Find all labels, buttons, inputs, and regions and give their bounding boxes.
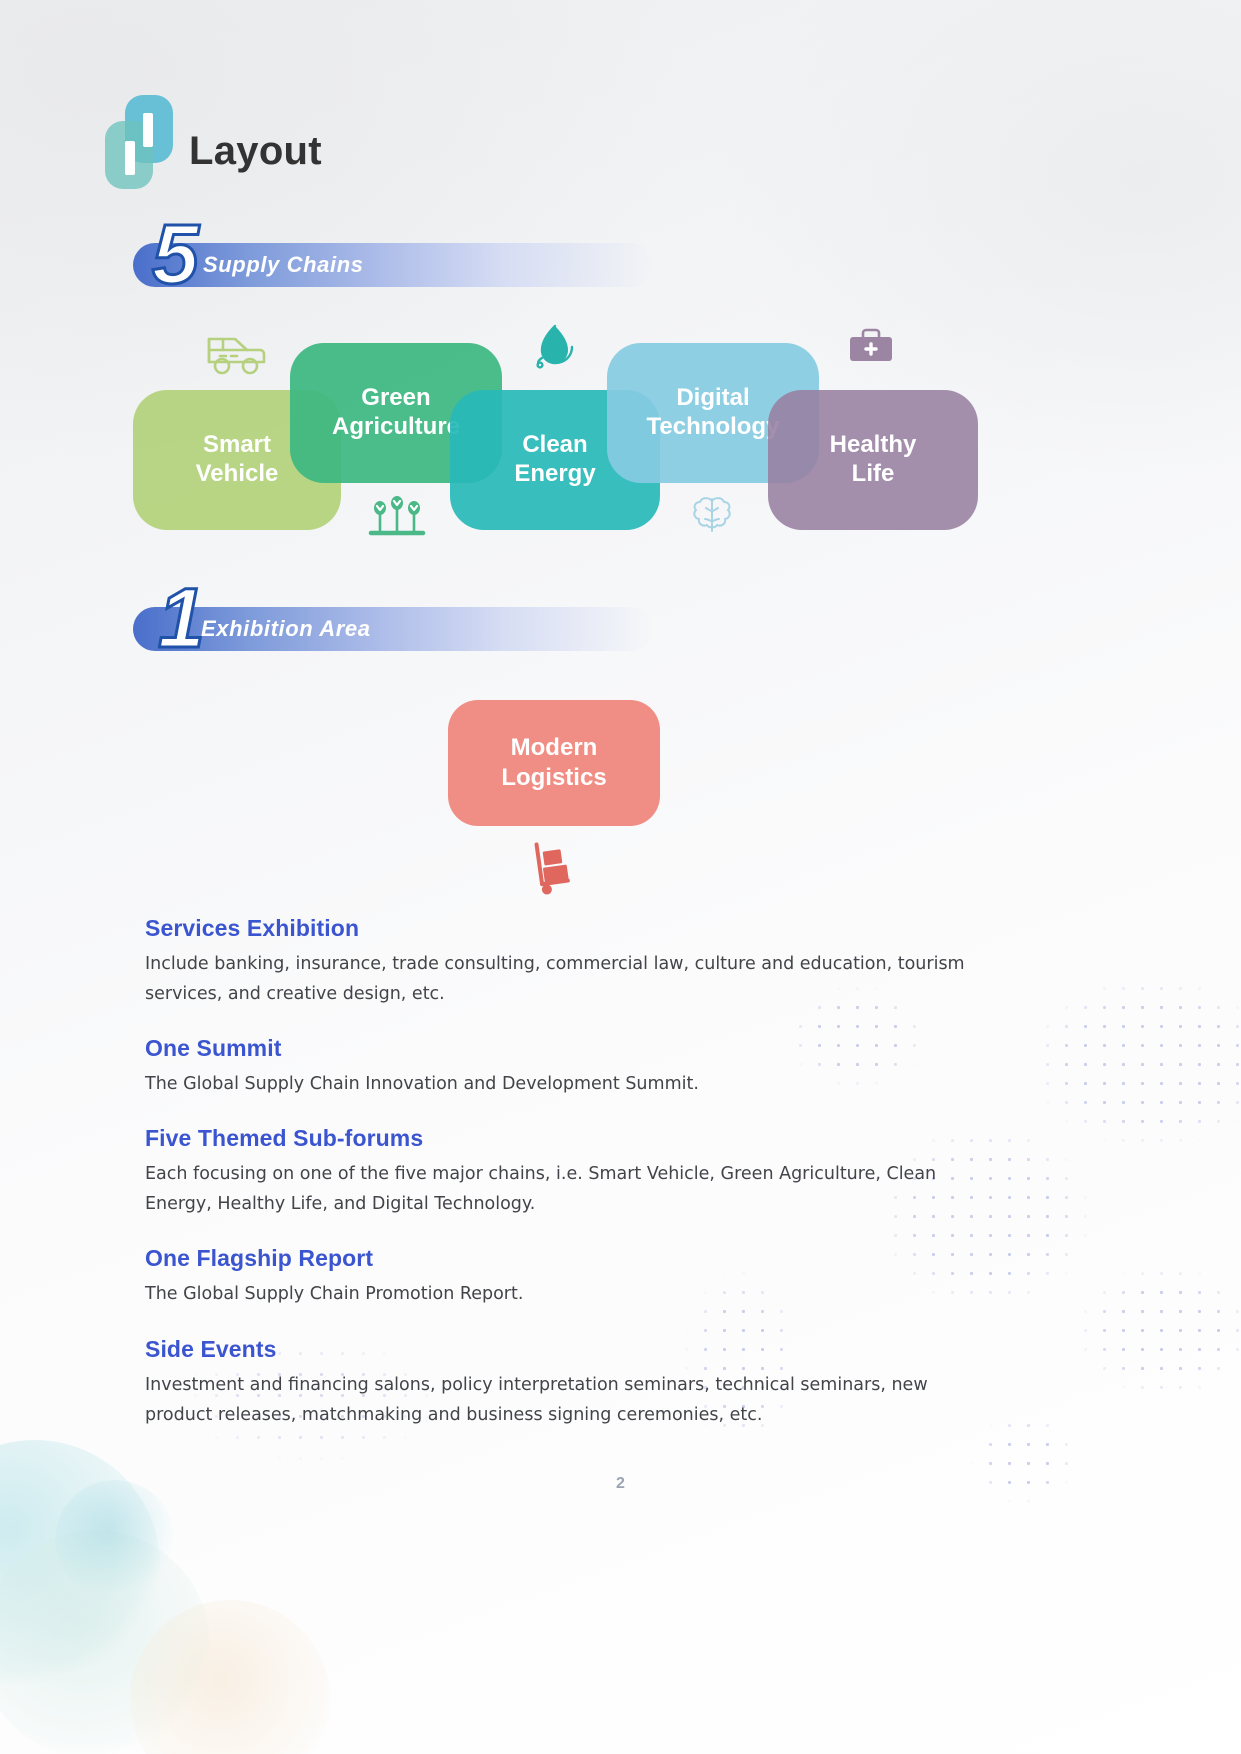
chain-label-line2: Vehicle — [196, 460, 279, 487]
detail-body: Each focusing on one of the five major c… — [145, 1159, 975, 1219]
brand-logo-icon — [105, 95, 177, 190]
chain-label-line1: Smart — [203, 431, 271, 458]
page-title: Layout — [189, 129, 322, 174]
detail-item: Side Events Investment and financing sal… — [145, 1336, 975, 1430]
hand-truck-icon — [528, 838, 584, 903]
details-list: Services Exhibition Include banking, ins… — [145, 915, 975, 1456]
detail-heading: One Flagship Report — [145, 1245, 975, 1272]
section-banner-label: Exhibition Area — [201, 616, 371, 642]
slide-page: Layout Supply Chains 5 Smart Vehicle Gre… — [0, 0, 1241, 1754]
leaf-icon — [530, 322, 580, 379]
detail-item: One Summit The Global Supply Chain Innov… — [145, 1035, 975, 1099]
detail-item: Services Exhibition Include banking, ins… — [145, 915, 975, 1009]
detail-body: The Global Supply Chain Promotion Report… — [145, 1279, 975, 1309]
detail-body: Include banking, insurance, trade consul… — [145, 949, 975, 1009]
wheat-icon — [368, 492, 426, 545]
section-banner-exhibition-area: Exhibition Area — [133, 607, 653, 651]
detail-item: One Flagship Report The Global Supply Ch… — [145, 1245, 975, 1309]
detail-body: Investment and financing salons, policy … — [145, 1370, 975, 1430]
chain-label-line2: Energy — [514, 460, 595, 487]
detail-item: Five Themed Sub-forums Each focusing on … — [145, 1125, 975, 1219]
brain-icon — [686, 492, 738, 543]
chain-label-line1: Clean — [522, 431, 587, 458]
chain-card-healthy-life[interactable]: Healthy Life — [768, 390, 978, 530]
detail-heading: Five Themed Sub-forums — [145, 1125, 975, 1152]
detail-body: The Global Supply Chain Innovation and D… — [145, 1069, 975, 1099]
decorative-bubble — [55, 1480, 175, 1600]
detail-heading: Services Exhibition — [145, 915, 975, 942]
page-number: 2 — [0, 1475, 1241, 1493]
section-number-1: 1 — [158, 576, 205, 660]
exhibition-card-line1: Modern — [511, 734, 598, 761]
section-banner-supply-chains: Supply Chains — [133, 243, 653, 287]
chain-label-line2: Technology — [647, 413, 780, 440]
car-icon — [203, 330, 269, 381]
detail-heading: Side Events — [145, 1336, 975, 1363]
chain-label-line1: Digital — [676, 384, 749, 411]
supply-chain-diagram: Smart Vehicle Green Agriculture Clean En… — [0, 330, 1241, 560]
chain-label-line1: Healthy — [830, 431, 917, 458]
chain-label-line1: Green — [361, 384, 430, 411]
chain-label-line2: Life — [852, 460, 895, 487]
exhibition-card-line2: Logistics — [501, 764, 606, 791]
chain-label-line2: Agriculture — [332, 413, 460, 440]
medical-kit-icon — [845, 325, 897, 374]
section-banner-label: Supply Chains — [203, 252, 364, 278]
exhibition-card-modern-logistics[interactable]: Modern Logistics — [448, 700, 660, 826]
page-header: Layout — [105, 95, 322, 190]
detail-heading: One Summit — [145, 1035, 975, 1062]
section-number-5: 5 — [152, 212, 199, 296]
